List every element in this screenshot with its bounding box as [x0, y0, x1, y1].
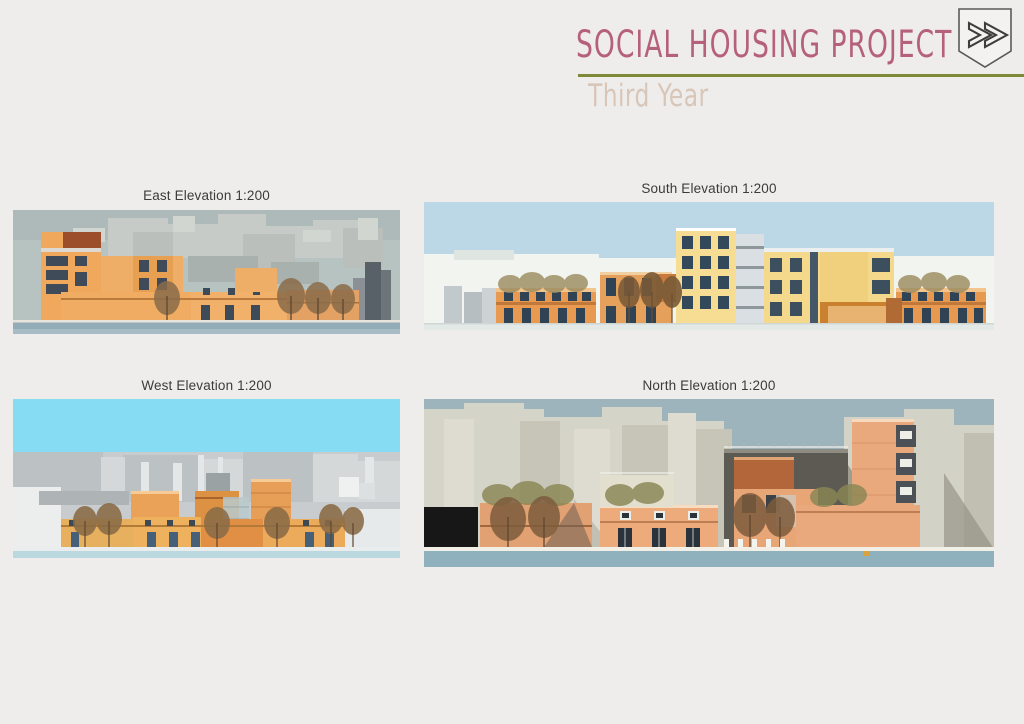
double-chevron-shield-logo [957, 7, 1013, 69]
page-subtitle: Third Year [588, 81, 709, 112]
panel-label-south: South Elevation 1:200 [424, 181, 994, 196]
panel-label-north: North Elevation 1:200 [424, 378, 994, 393]
panel-label-west: West Elevation 1:200 [13, 378, 400, 393]
elevation-image-east[interactable] [13, 210, 400, 334]
header-divider-rule [578, 74, 1024, 77]
panel-label-east: East Elevation 1:200 [13, 188, 400, 203]
board-header: SOCIAL HOUSING PROJECT Third Year [0, 0, 1024, 130]
elevation-image-north[interactable] [424, 399, 994, 567]
title-block: SOCIAL HOUSING PROJECT [482, 26, 952, 63]
elevation-image-south[interactable] [424, 202, 994, 330]
page-title: SOCIAL HOUSING PROJECT [576, 26, 952, 63]
elevation-image-west[interactable] [13, 399, 400, 558]
